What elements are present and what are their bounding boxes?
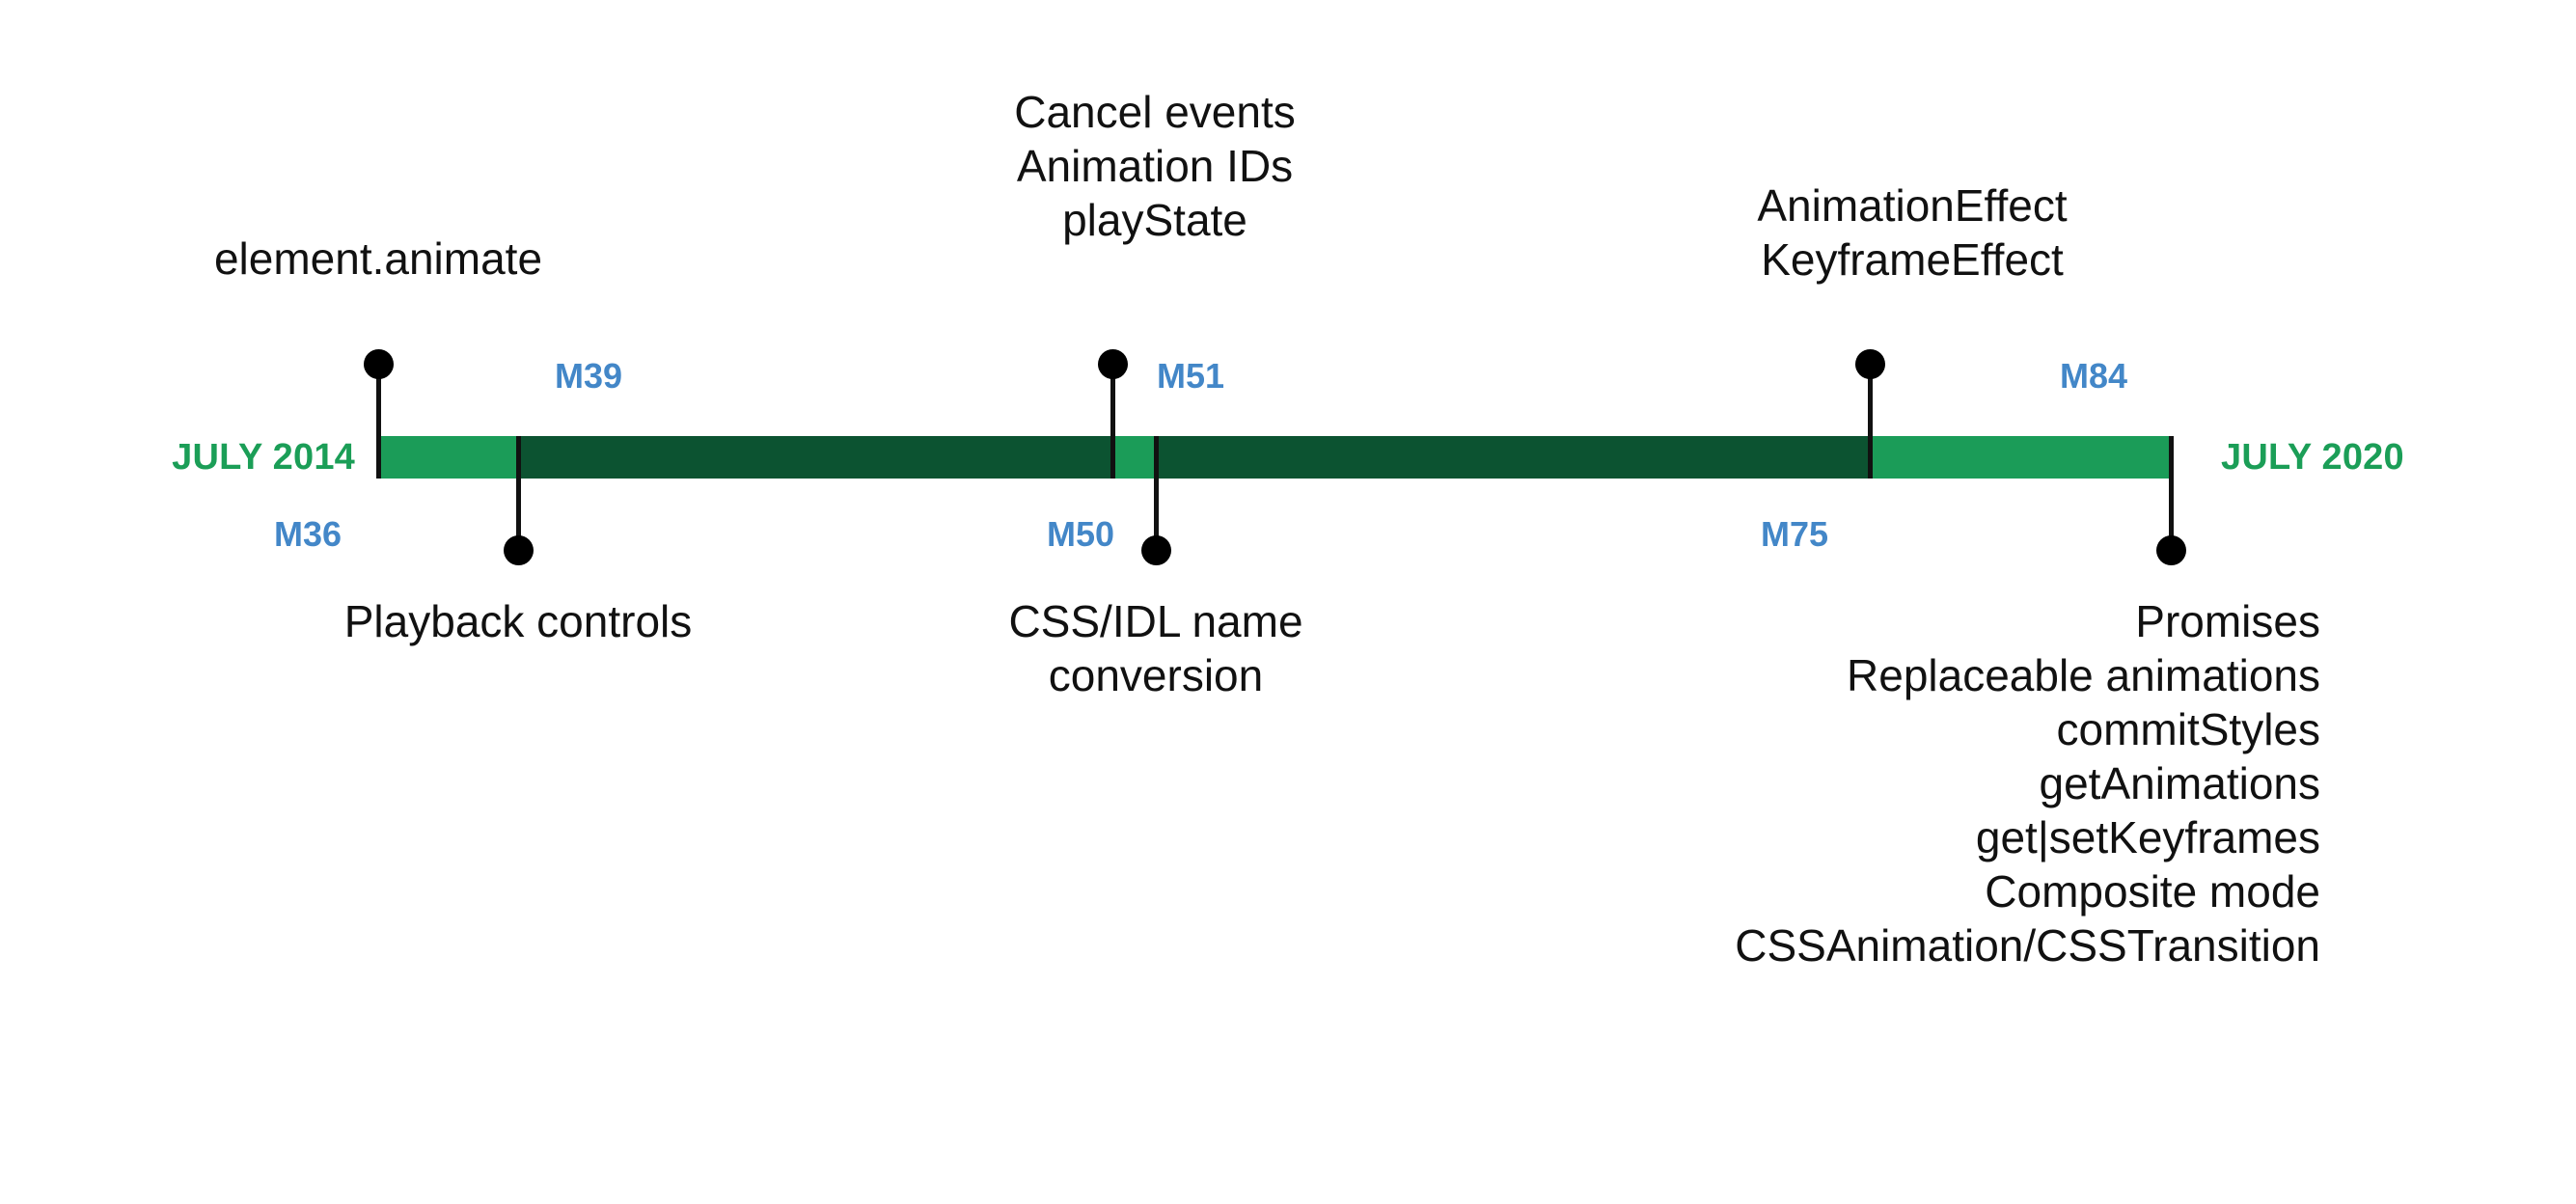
feature-item: CSS/IDL name xyxy=(577,594,1735,648)
bar-segment-m36-to-m39 xyxy=(378,436,518,479)
feature-item: KeyframeEffect xyxy=(1333,233,2491,287)
bar-segment-m50-to-m75 xyxy=(1156,436,1870,479)
feature-item: get|setKeyframes xyxy=(1735,810,2320,864)
milestone-dot-m39[interactable] xyxy=(504,535,534,565)
feature-list-m84: PromisesReplaceable animationscommitStyl… xyxy=(1735,594,2320,972)
bar-segment-m75-to-m84 xyxy=(1870,436,2171,479)
feature-item: Replaceable animations xyxy=(1735,648,2320,702)
milestone-label-m50: M50 xyxy=(1047,517,1114,552)
milestone-dot-m36[interactable] xyxy=(364,349,394,379)
milestone-stem-m51 xyxy=(1110,364,1115,479)
milestone-stem-m84 xyxy=(2169,436,2174,550)
milestone-label-m39: M39 xyxy=(555,359,622,394)
milestone-label-m75: M75 xyxy=(1761,517,1828,552)
feature-item: getAnimations xyxy=(1735,756,2320,810)
feature-list-m75: AnimationEffectKeyframeEffect xyxy=(1333,178,2491,287)
milestone-label-m51: M51 xyxy=(1157,359,1224,394)
timeline-diagram: JULY 2014 JULY 2020 M36element.animateM3… xyxy=(0,0,2576,1204)
feature-list-m50: CSS/IDL nameconversion xyxy=(577,594,1735,702)
milestone-dot-m51[interactable] xyxy=(1098,349,1128,379)
bar-segment-m51-to-m50 xyxy=(1112,436,1156,479)
era-start-label: JULY 2014 xyxy=(172,436,355,479)
milestone-stem-m36 xyxy=(376,364,381,479)
feature-item: Promises xyxy=(1735,594,2320,648)
feature-item: Composite mode xyxy=(1735,864,2320,918)
feature-item: conversion xyxy=(577,648,1735,702)
feature-item: Cancel events xyxy=(576,85,1734,139)
timeline-bar xyxy=(378,436,2171,479)
milestone-dot-m84[interactable] xyxy=(2156,535,2186,565)
milestone-dot-m50[interactable] xyxy=(1141,535,1171,565)
milestone-dot-m75[interactable] xyxy=(1855,349,1885,379)
milestone-label-m84: M84 xyxy=(2060,359,2127,394)
feature-item: AnimationEffect xyxy=(1333,178,2491,233)
era-end-label: JULY 2020 xyxy=(2221,436,2404,479)
bar-segment-m39-to-m51 xyxy=(518,436,1112,479)
milestone-stem-m39 xyxy=(516,436,521,550)
milestone-stem-m75 xyxy=(1868,364,1873,479)
milestone-stem-m50 xyxy=(1154,436,1159,550)
feature-item: commitStyles xyxy=(1735,702,2320,756)
feature-item: CSSAnimation/CSSTransition xyxy=(1735,918,2320,972)
milestone-label-m36: M36 xyxy=(274,517,342,552)
